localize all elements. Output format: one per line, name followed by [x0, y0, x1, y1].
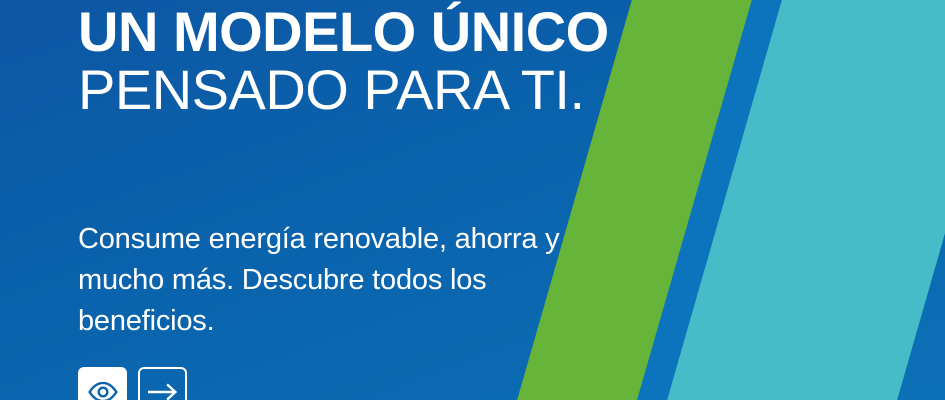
arrow-right-icon — [147, 383, 179, 400]
banner-actions — [78, 367, 187, 400]
headline-line-1: UN MODELO ÚNICO — [78, 0, 638, 61]
banner-subcopy: Consume energía renovable, ahorra y much… — [78, 219, 598, 342]
headline-line-2: PENSADO PARA TI. — [78, 61, 638, 119]
eye-icon — [88, 382, 118, 400]
stripe-cyan — [621, 0, 945, 400]
next-button[interactable] — [138, 367, 187, 400]
promo-banner: UN MODELO ÚNICO PENSADO PARA TI. Consume… — [0, 0, 945, 400]
view-button[interactable] — [78, 367, 127, 400]
banner-content: UN MODELO ÚNICO PENSADO PARA TI. Consume… — [78, 0, 638, 400]
